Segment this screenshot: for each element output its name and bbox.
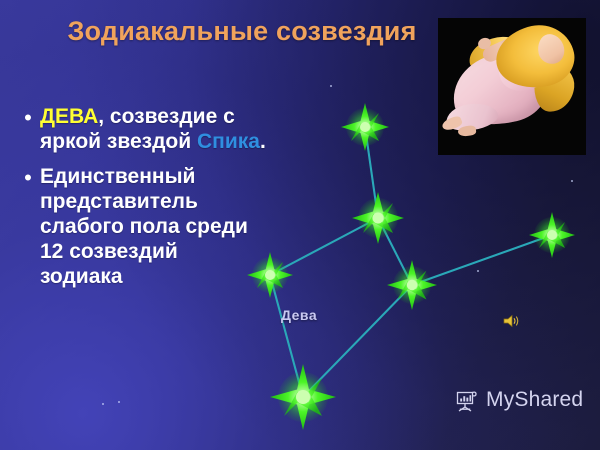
bullet-text: ДЕВА, созвездие с яркой звездой Спика. — [40, 104, 266, 154]
list-item: • ДЕВА, созвездие с яркой звездой Спика. — [16, 104, 266, 154]
bullet-segment-deva: ДЕВА — [40, 105, 98, 128]
bullet-text: Единственный представитель слабого пола … — [40, 164, 266, 289]
virgo-illustration — [438, 18, 586, 155]
presentation-easel-icon — [453, 387, 479, 413]
list-item: • Единственный представитель слабого пол… — [16, 164, 266, 289]
bullet-segment-spika: Спика — [197, 130, 260, 153]
background-star — [571, 180, 573, 182]
slide-title: Зодиакальные созвездия — [52, 14, 432, 48]
bullet-list: • ДЕВА, созвездие с яркой звездой Спика.… — [16, 104, 266, 299]
bullet-marker-icon: • — [16, 164, 40, 191]
constellation-label: Дева — [281, 307, 317, 323]
speaker-icon[interactable] — [503, 313, 521, 329]
background-star — [102, 403, 104, 405]
background-star — [118, 401, 120, 403]
bullet-marker-icon: • — [16, 104, 40, 131]
background-star — [477, 270, 479, 272]
watermark: MyShared — [453, 387, 583, 413]
bullet-segment-period: . — [260, 130, 266, 153]
watermark-text: MyShared — [486, 388, 583, 412]
background-star — [330, 85, 332, 87]
virgo-foot — [457, 125, 476, 137]
presentation-slide: Зодиакальные созвездия • ДЕВА, созвездие… — [0, 0, 600, 450]
